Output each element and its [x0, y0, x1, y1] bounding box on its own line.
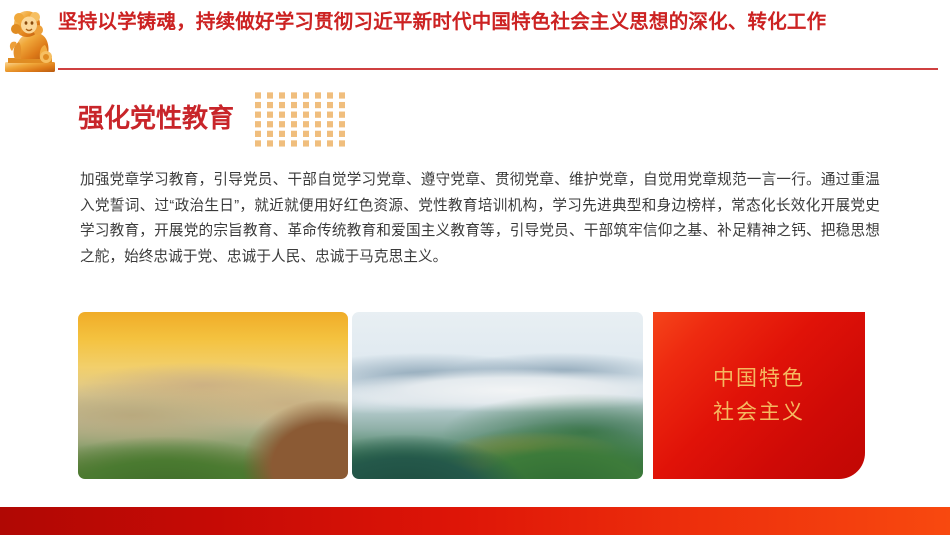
red-slogan-card: 中国特色 社会主义 — [653, 312, 865, 479]
section-heading-block: 强化党性教育 — [78, 92, 234, 144]
dot-grid-decoration — [255, 89, 347, 147]
section-title: 强化党性教育 — [78, 92, 234, 144]
header-divider — [58, 68, 938, 70]
page-title: 坚持以学铸魂，持续做好学习贯彻习近平新时代中国特色社会主义思想的深化、转化工作 — [58, 9, 938, 35]
body-paragraph: 加强党章学习教育，引导党员、干部自觉学习党章、遵守党章、贯彻党章、维护党章，自觉… — [80, 168, 880, 270]
chinese-guardian-lion-icon — [2, 2, 58, 74]
footer-accent-bar — [0, 507, 950, 535]
great-wall-sunset-photo — [78, 312, 348, 479]
slide-header: 坚持以学铸魂，持续做好学习贯彻习近平新时代中国特色社会主义思想的深化、转化工作 — [0, 0, 950, 78]
slogan-line-1: 中国特色 — [713, 362, 805, 396]
slogan-line-2: 社会主义 — [713, 396, 805, 430]
great-wall-sea-of-clouds-photo — [352, 312, 643, 479]
